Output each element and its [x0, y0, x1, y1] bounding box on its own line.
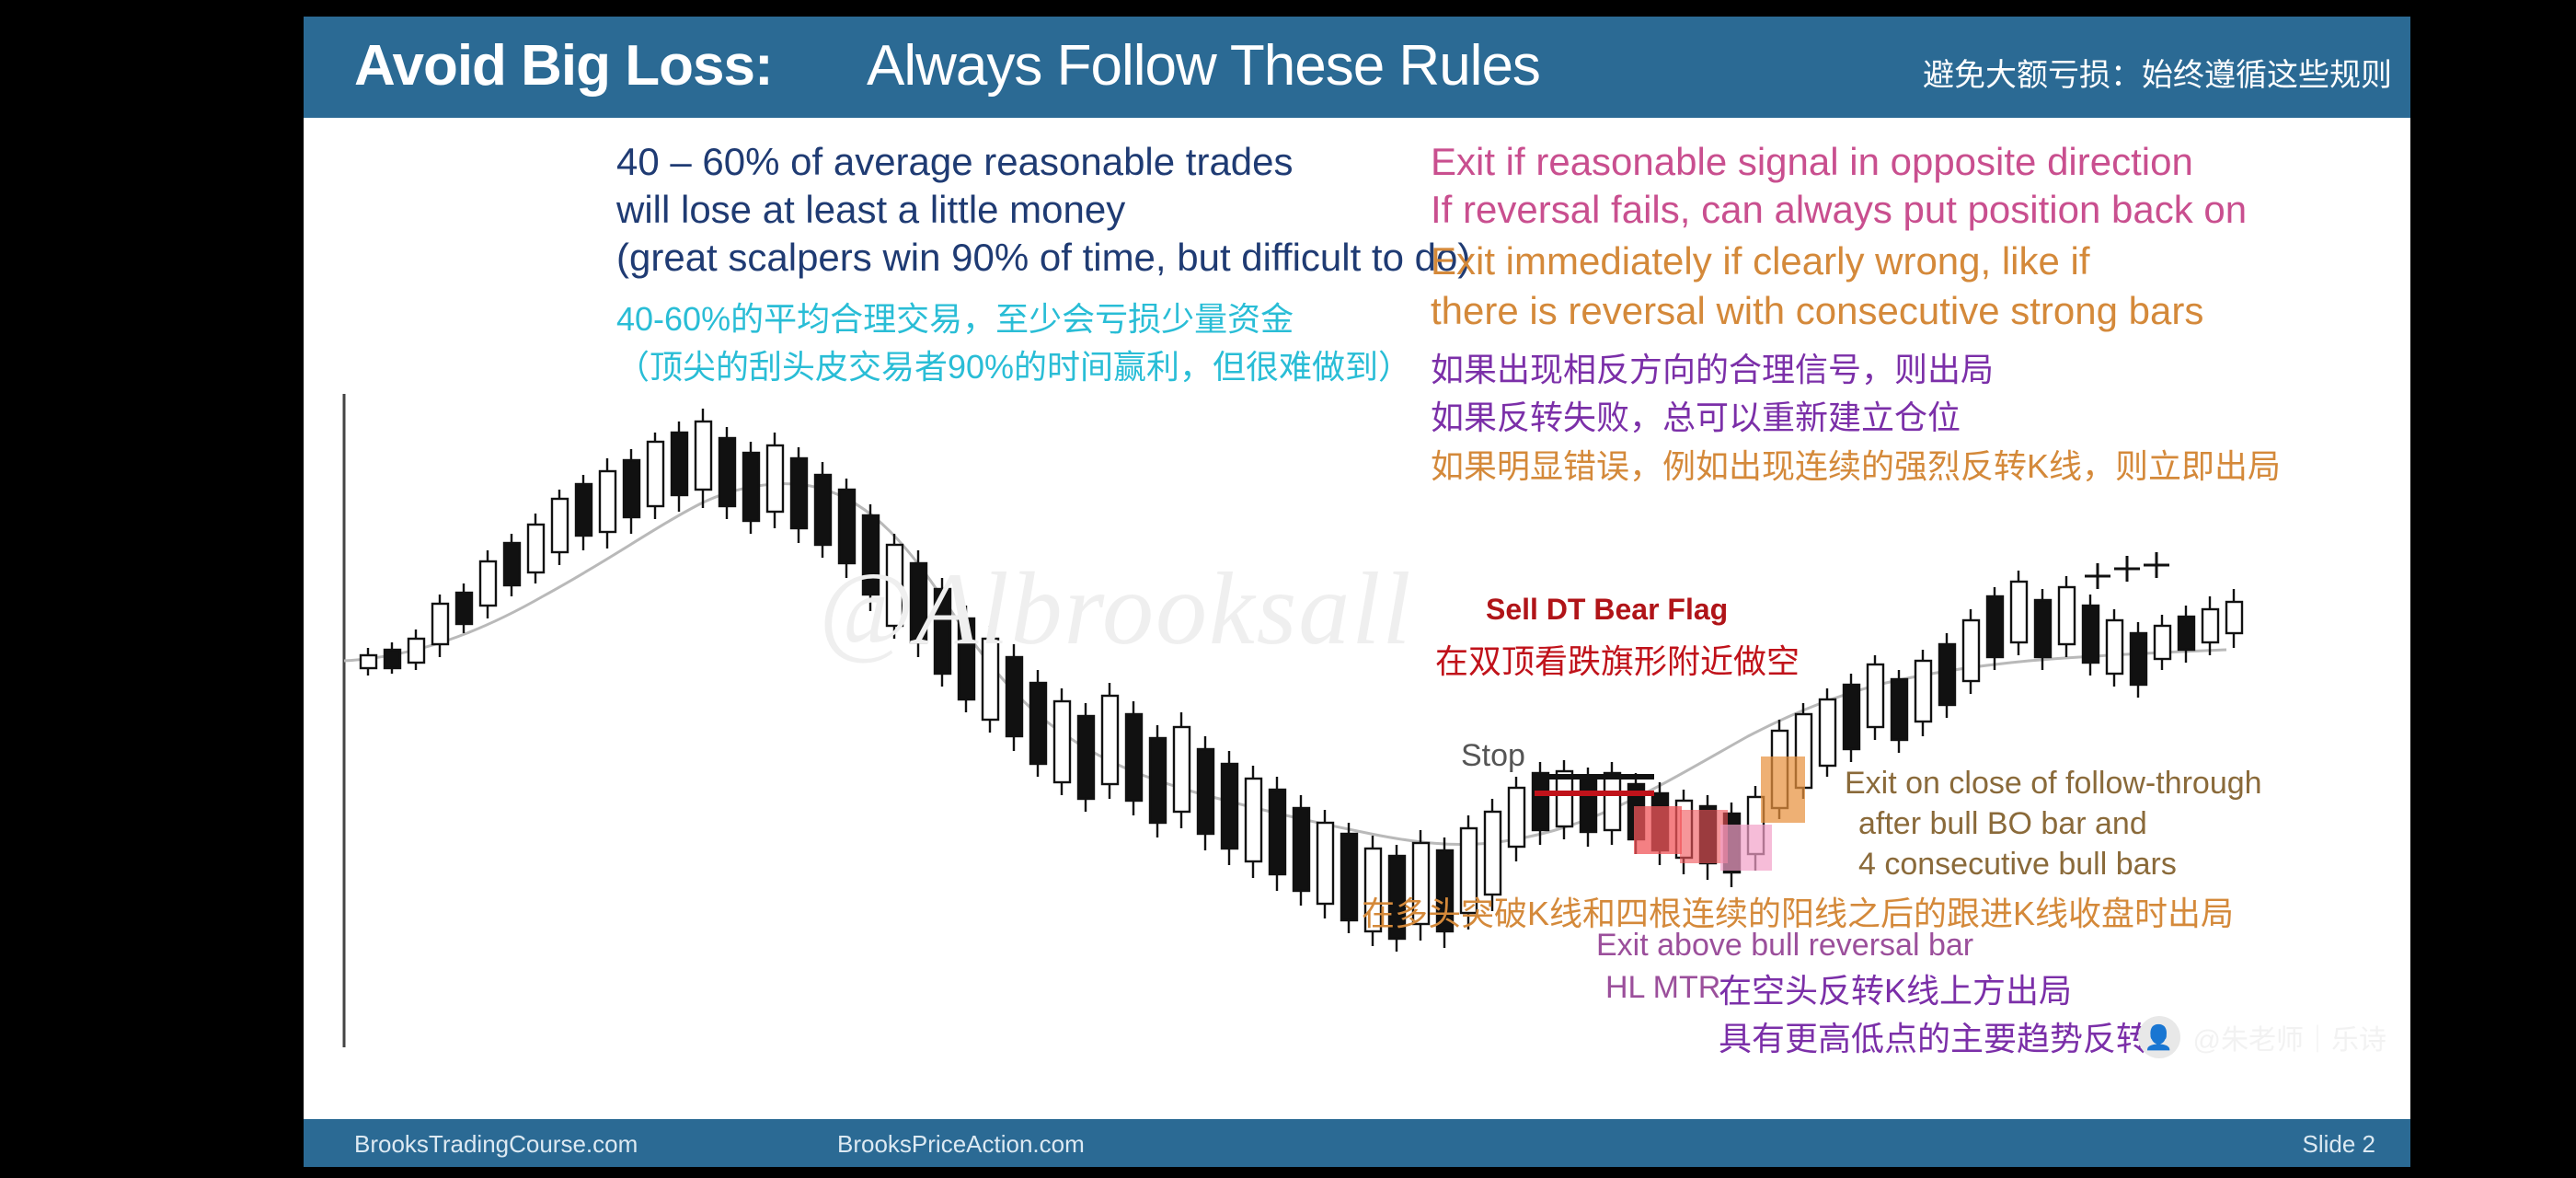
page-title-regular: Always Follow These Rules — [867, 33, 1540, 98]
user-avatar-icon: 👤 — [2138, 1016, 2180, 1058]
right-text-cn1: 如果出现相反方向的合理信号，则出局 — [1431, 343, 1994, 391]
right-text-line4: there is reversal with consecutive stron… — [1431, 289, 2203, 333]
hl-mtr-label: HL MTR — [1605, 970, 1720, 1006]
hl-mtr-cn: 具有更高低点的主要趋势反转 — [1719, 1012, 2149, 1060]
brand-watermark-text: @朱老师｜乐诗 — [2193, 1017, 2386, 1057]
left-text-cn2: （顶尖的刮头皮交易者90%的时间赢利，但很难做到） — [616, 341, 1411, 388]
left-text-line3: (great scalpers win 90% of time, but dif… — [616, 236, 1470, 280]
left-text-line1: 40 – 60% of average reasonable trades — [616, 140, 1294, 184]
left-text-line2: will lose at least a little money — [616, 188, 1125, 232]
sell-dt-label-cn: 在双顶看跌旗形附近做空 — [1435, 635, 1800, 683]
slide-footer: BrooksTradingCourse.com BrooksPriceActio… — [304, 1119, 2410, 1167]
brand-watermark: 👤 @朱老师｜乐诗 — [2138, 1016, 2386, 1058]
right-text-cn3: 如果明显错误，例如出现连续的强烈反转K线，则立即出局 — [1431, 440, 2281, 488]
plus-marks — [2085, 552, 2169, 589]
footer-brooks-price-action: BrooksPriceAction.com — [837, 1130, 1085, 1159]
right-text-line3: Exit immediately if clearly wrong, like … — [1431, 239, 2090, 283]
screenshot-root: Avoid Big Loss: Always Follow These Rule… — [0, 0, 2576, 1178]
chart-watermark: @Albrooksall — [819, 550, 1413, 669]
stop-label: Stop — [1461, 738, 1525, 774]
right-text-line2: If reversal fails, can always put positi… — [1431, 188, 2247, 232]
exit-above-label: Exit above bull reversal bar — [1596, 928, 1973, 964]
left-text-cn1: 40-60%的平均合理交易，至少会亏损少量资金 — [616, 293, 1294, 341]
exit-close-line3: 4 consecutive bull bars — [1858, 847, 2177, 883]
slide-title-bar: Avoid Big Loss: Always Follow These Rule… — [304, 17, 2410, 118]
footer-slide-number: Slide 2 — [2303, 1130, 2376, 1159]
page-title-chinese: 避免大额亏损：始终遵循这些规则 — [1923, 50, 2392, 95]
exit-above-cn: 在空头反转K线上方出局 — [1719, 964, 2072, 1012]
exit-close-line1: Exit on close of follow-through — [1845, 766, 2262, 802]
price-chart: @Albrooksall — [304, 118, 2410, 1119]
page-title-bold: Avoid Big Loss: — [354, 33, 773, 98]
footer-brooks-trading-course: BrooksTradingCourse.com — [354, 1130, 638, 1159]
slide: Avoid Big Loss: Always Follow These Rule… — [304, 17, 2410, 1167]
exit-close-line2: after bull BO bar and — [1858, 806, 2147, 842]
sell-dt-label: Sell DT Bear Flag — [1486, 593, 1728, 627]
right-text-line1: Exit if reasonable signal in opposite di… — [1431, 140, 2193, 184]
right-text-cn2: 如果反转失败，总可以重新建立仓位 — [1431, 391, 1961, 439]
